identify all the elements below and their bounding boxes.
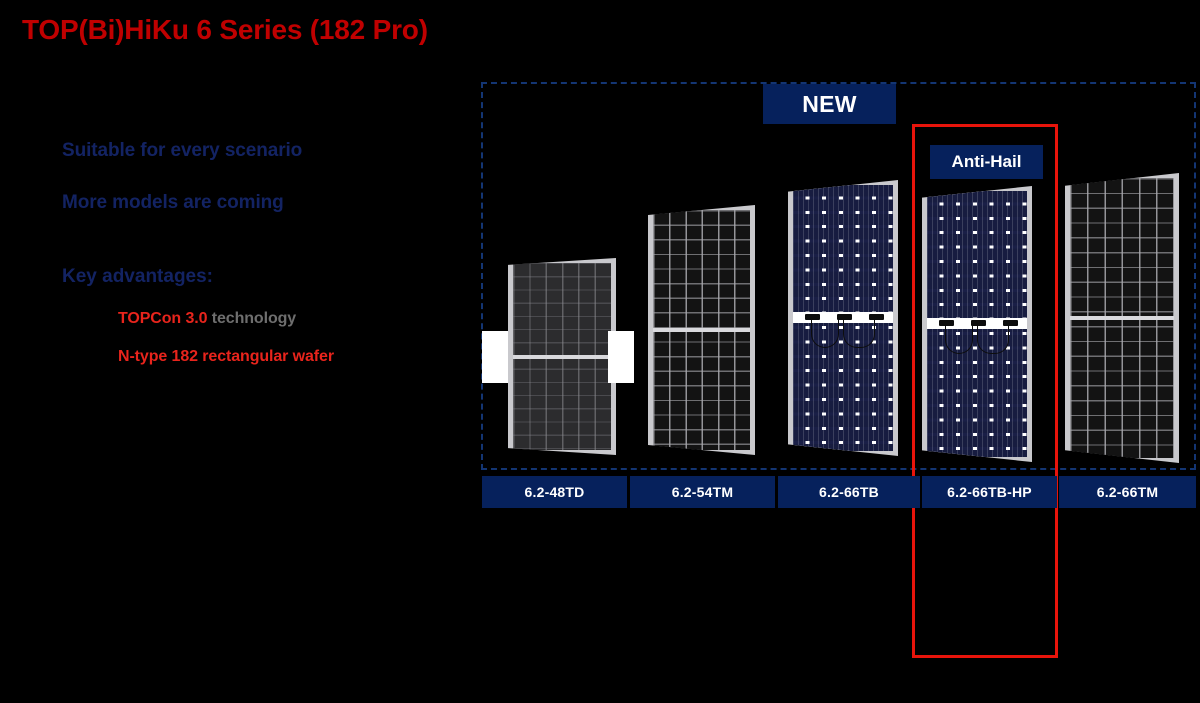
product-panel-image-5 xyxy=(1065,173,1179,463)
anti-hail-highlight-box xyxy=(912,124,1058,658)
model-label-2[interactable]: 6.2-54TM xyxy=(630,476,775,508)
connector-box-left xyxy=(482,331,508,383)
lead-line-1: Suitable for every scenario xyxy=(62,140,462,162)
product-panel-image-1 xyxy=(508,258,616,455)
model-label-4[interactable]: 6.2-66TB-HP xyxy=(922,476,1057,508)
new-badge: NEW xyxy=(763,84,896,124)
center-bus-strip xyxy=(1070,316,1174,320)
center-bus-strip xyxy=(653,328,750,332)
advantage-item-topcon: TOPCon 3.0 technology xyxy=(118,310,462,328)
junction-wire xyxy=(811,320,839,348)
advantage-highlight: N-type 182 rectangular wafer xyxy=(118,348,334,365)
advantage-item-wafer: N-type 182 rectangular wafer xyxy=(118,348,462,366)
center-bus-strip xyxy=(513,355,611,359)
key-advantages-heading: Key advantages: xyxy=(62,266,462,288)
product-panel-image-2 xyxy=(648,205,755,455)
advantage-rest: technology xyxy=(207,310,296,327)
product-panel-image-3 xyxy=(788,180,898,456)
page-title: TOP(Bi)HiKu 6 Series (182 Pro) xyxy=(22,14,428,46)
junction-wire xyxy=(843,320,875,348)
model-label-5[interactable]: 6.2-66TM xyxy=(1059,476,1196,508)
left-copy-block: Suitable for every scenario More models … xyxy=(62,140,462,386)
lead-line-2: More models are coming xyxy=(62,192,462,214)
model-label-3[interactable]: 6.2-66TB xyxy=(778,476,920,508)
connector-box-right xyxy=(608,331,634,383)
anti-hail-badge: Anti-Hail xyxy=(930,145,1043,179)
model-label-1[interactable]: 6.2-48TD xyxy=(482,476,627,508)
advantage-highlight: TOPCon 3.0 xyxy=(118,310,207,327)
